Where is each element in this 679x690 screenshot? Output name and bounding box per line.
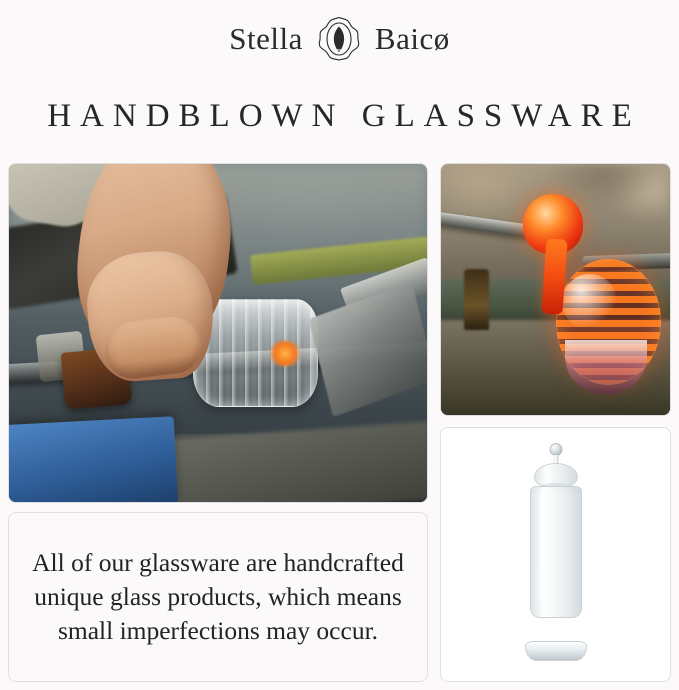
panel-glassblower (8, 163, 428, 503)
photo-apothecary-jar (441, 428, 670, 681)
panel-molten-coil (440, 163, 671, 416)
brand-name-right: Baicø (375, 21, 450, 57)
product-infographic: Stella Baicø HANDBLOWN GLASSWARE (0, 0, 679, 690)
photo-molten-coil (441, 164, 670, 415)
brand-name-left: Stella (229, 21, 303, 57)
disclaimer-text: All of our glassware are handcrafted uni… (23, 546, 413, 648)
panel-finished-jar (440, 427, 671, 682)
page-title: HANDBLOWN GLASSWARE (0, 98, 679, 135)
brand-header: Stella Baicø (0, 14, 679, 64)
glass-jar-illustration (513, 443, 599, 661)
scalloped-medallion-icon (317, 16, 361, 62)
photo-glassblower (9, 164, 427, 502)
disclaimer-callout: All of our glassware are handcrafted uni… (8, 512, 428, 682)
